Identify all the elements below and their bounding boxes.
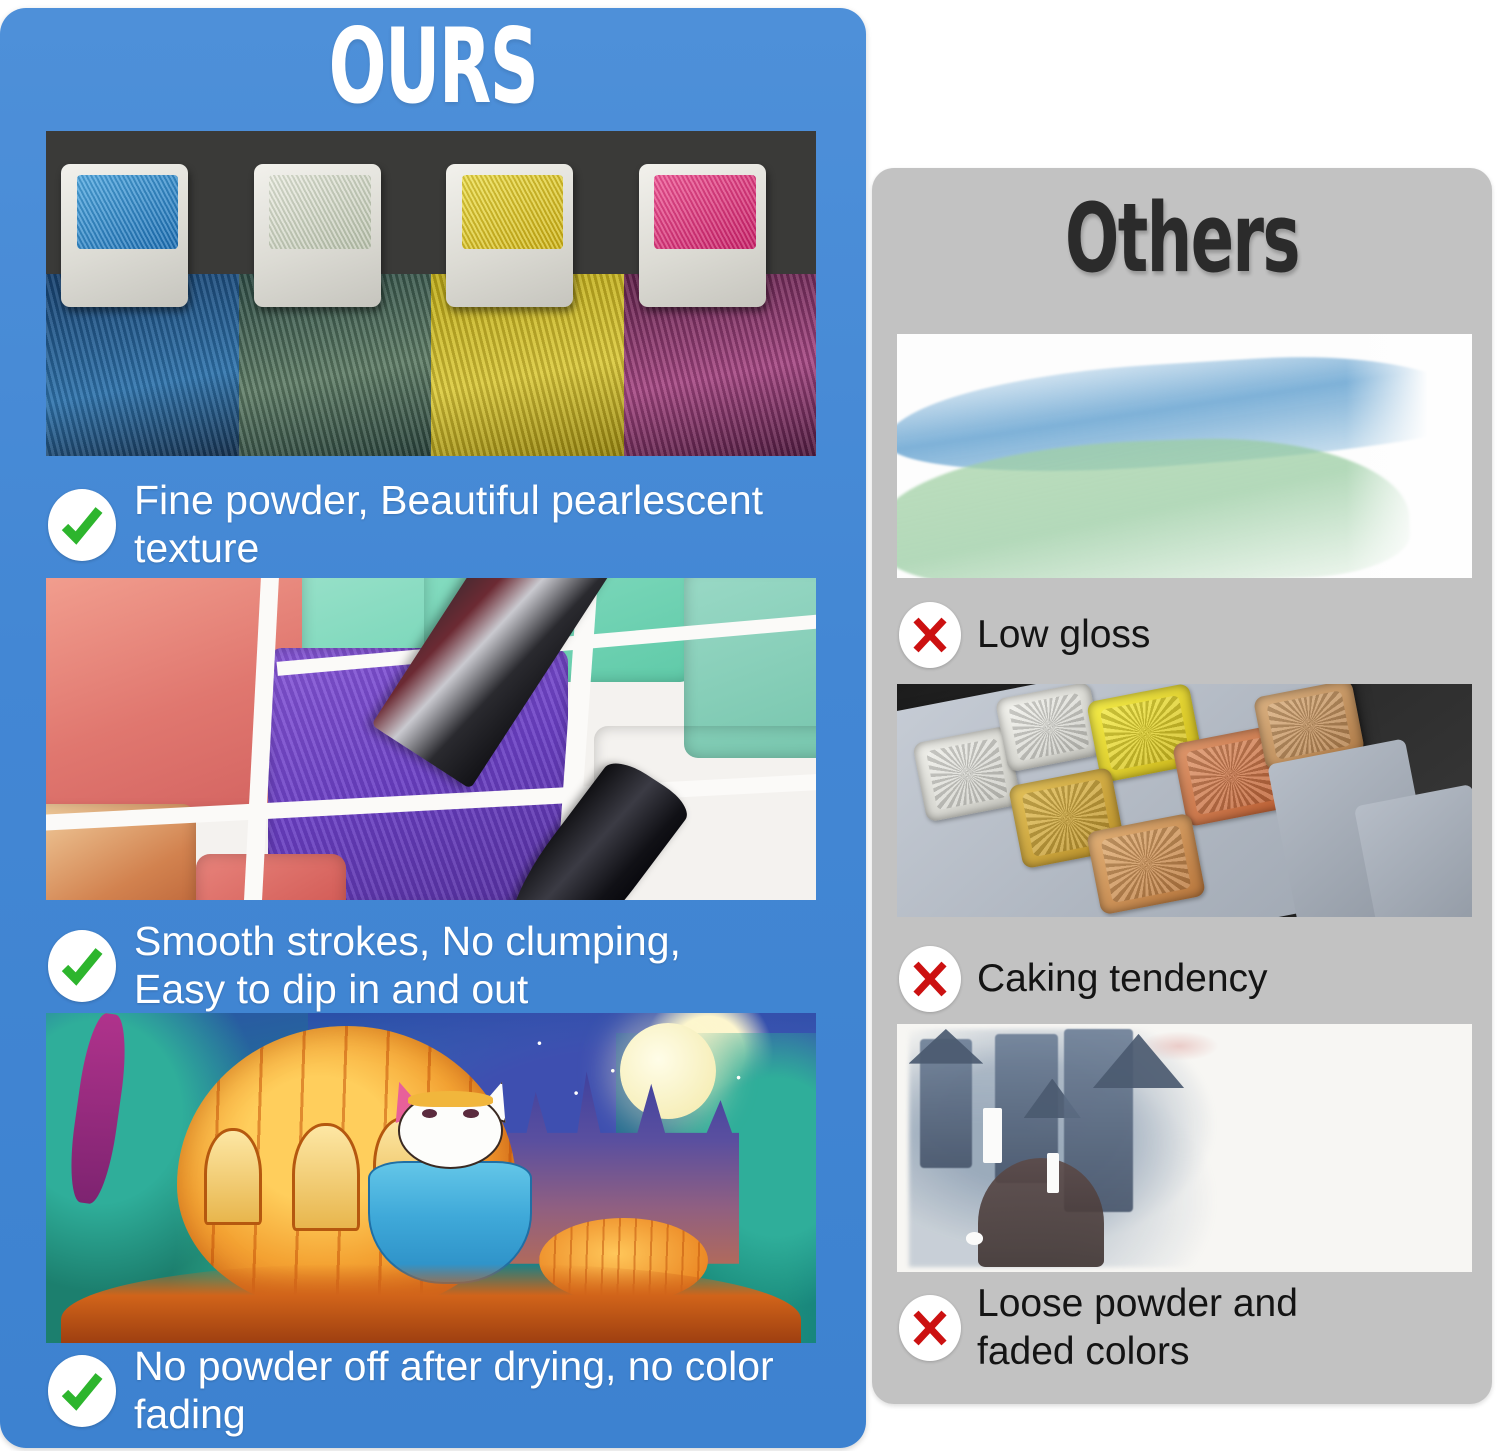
ours-feature-2-label: Smooth strokes, No clumping, Easy to dip… [134,918,681,1013]
others-title: Others [946,190,1417,286]
pearlescent-paint-pans-photo [46,131,816,456]
paint-pan-blue [46,131,239,456]
green-check-icon [48,1355,116,1427]
cat-princess-pumpkin-carriage-painting [46,1013,816,1343]
comparison-infographic: OURS Fin [0,0,1500,1451]
green-check-icon [48,930,116,1002]
palette-pan-red [196,854,346,900]
ours-feature-3: No powder off after drying, no color fad… [48,1352,838,1430]
moon-icon [620,1023,716,1119]
caked-metallic-pans-photo [897,684,1472,917]
pale-wash-swatch-photo [897,334,1472,578]
others-feature-1: Low gloss [899,600,1459,670]
cat-princess-character [377,1092,523,1283]
paint-pan-silver [239,131,432,456]
ours-feature-1: Fine powder, Beautiful pearlescent textu… [48,486,838,564]
ours-feature-1-label: Fine powder, Beautiful pearlescent textu… [134,477,838,572]
red-x-icon [899,1295,961,1361]
others-feature-2: Caking tendency [899,944,1459,1014]
ours-feature-2: Smooth strokes, No clumping, Easy to dip… [48,916,838,1016]
others-feature-2-label: Caking tendency [977,955,1268,1003]
others-feature-3-label: Loose powder and faded colors [977,1280,1298,1375]
faded-castle-painting [897,1024,1472,1272]
paint-pan-pink [624,131,817,456]
ours-title: OURS [113,16,754,119]
others-feature-1-label: Low gloss [977,611,1150,659]
red-x-icon [899,946,961,1012]
others-feature-3: Loose powder and faded colors [899,1278,1459,1378]
ours-feature-3-label: No powder off after drying, no color fad… [134,1343,838,1438]
paint-pan-gold [431,131,624,456]
palette-with-brush-photo [46,578,816,900]
red-x-icon [899,602,961,668]
green-check-icon [48,489,116,561]
